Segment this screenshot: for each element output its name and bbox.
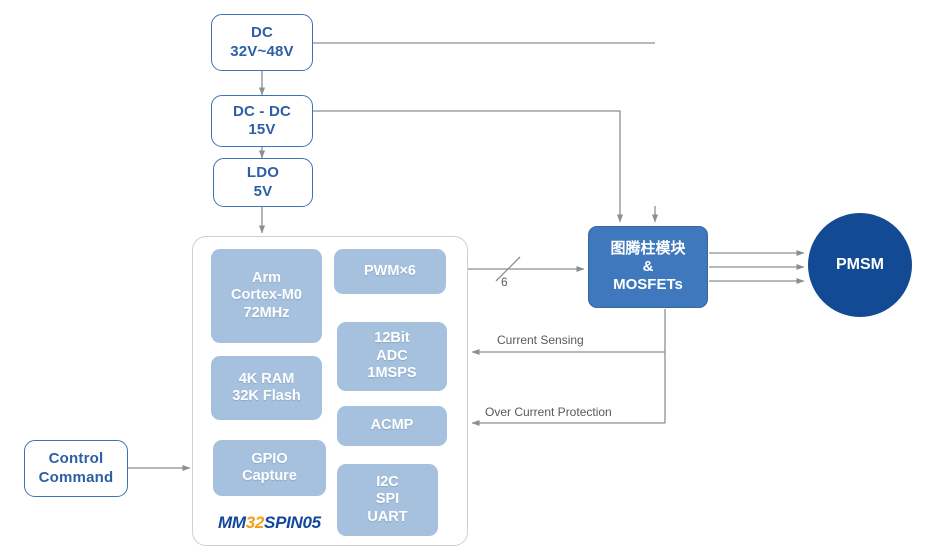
pmsm-label: PMSM — [836, 256, 884, 274]
power-box-ldo: LDO 5V — [213, 158, 313, 207]
mcu-block-adc: 12Bit ADC 1MSPS — [337, 322, 447, 391]
mcu-block-comms: I2C SPI UART — [337, 464, 438, 536]
adc-line1: 12Bit — [374, 330, 409, 347]
gpio-line2: Capture — [242, 468, 297, 485]
mcu-block-memory: 4K RAM 32K Flash — [211, 356, 322, 420]
logo-part-3: SPIN05 — [264, 513, 321, 532]
dc-source-line2: 32V~48V — [230, 43, 294, 61]
dc-dc-line2: 15V — [248, 121, 275, 139]
gpio-line1: GPIO — [251, 451, 287, 468]
memory-line2: 32K Flash — [232, 388, 301, 405]
driver-line1: 图腾柱模块 — [610, 240, 685, 258]
memory-line1: 4K RAM — [239, 371, 295, 388]
mm32spin05-logo: MM32SPIN05 — [218, 513, 321, 533]
power-box-dc-source: DC 32V~48V — [211, 14, 313, 71]
ldo-line1: LDO — [247, 164, 279, 182]
comms-line3: UART — [367, 509, 407, 526]
mcu-block-gpio: GPIO Capture — [213, 440, 326, 496]
current-sensing-label: Current Sensing — [497, 333, 584, 347]
pwm-line1: PWM×6 — [364, 263, 416, 280]
driver-line3: MOSFETs — [613, 276, 683, 294]
power-box-dc-dc: DC - DC 15V — [211, 95, 313, 147]
adc-line2: ADC — [376, 348, 407, 365]
dc-dc-line1: DC - DC — [233, 103, 291, 121]
logo-part-1: MM — [218, 513, 246, 532]
control-command-line2: Command — [39, 469, 114, 487]
acmp-line1: ACMP — [371, 417, 414, 434]
adc-line3: 1MSPS — [367, 365, 416, 382]
comms-line1: I2C — [376, 474, 399, 491]
totem-pole-mosfet-block: 图腾柱模块 & MOSFETs — [588, 226, 708, 308]
mcu-block-pwm: PWM×6 — [334, 249, 446, 294]
block-diagram-canvas: DC 32V~48V DC - DC 15V LDO 5V Control Co… — [0, 0, 938, 555]
driver-line2: & — [643, 258, 654, 276]
comms-line2: SPI — [376, 491, 399, 508]
control-command-line1: Control — [49, 450, 104, 468]
logo-part-2: 32 — [246, 513, 264, 532]
over-current-protection-label: Over Current Protection — [485, 405, 612, 419]
mcu-block-acmp: ACMP — [337, 406, 447, 446]
connector-layer — [0, 0, 938, 555]
cpu-line2: Cortex-M0 — [231, 287, 302, 304]
mcu-block-cpu: Arm Cortex-M0 72MHz — [211, 249, 322, 343]
ldo-line2: 5V — [254, 183, 273, 201]
bus-width-label: 6 — [501, 275, 508, 289]
wire-15v-rail — [311, 111, 620, 222]
dc-source-line1: DC — [251, 24, 273, 42]
bus-width-slash — [496, 257, 520, 281]
cpu-line1: Arm — [252, 270, 281, 287]
pmsm-motor: PMSM — [808, 213, 912, 317]
control-command-box: Control Command — [24, 440, 128, 497]
cpu-line3: 72MHz — [244, 305, 290, 322]
